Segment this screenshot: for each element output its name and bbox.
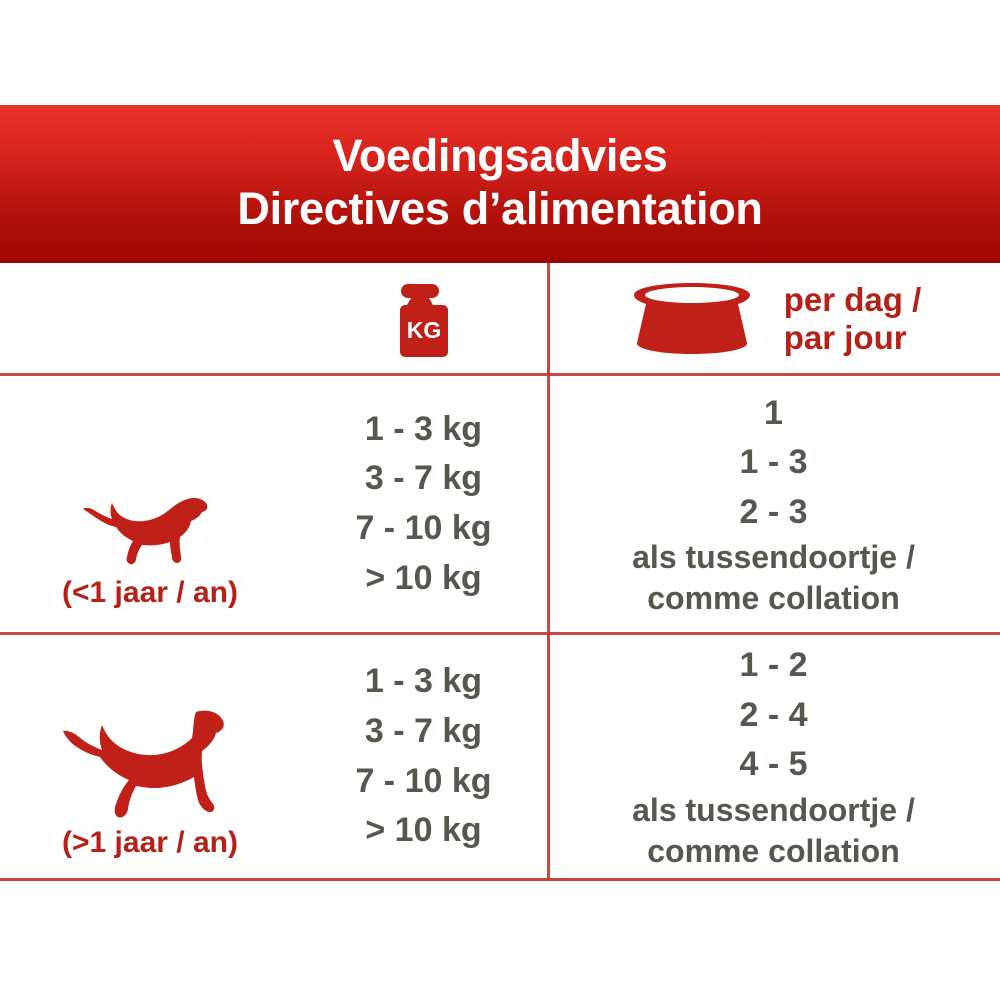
table-rule-bottom (0, 878, 1000, 881)
row-2-amount-note-line-2: comme collation (647, 831, 900, 872)
table-row: (<1 jaar / an) 1 - 3 kg 3 - 7 kg 7 - 10 … (0, 376, 1000, 632)
header-cell-weight: KG (300, 280, 547, 358)
page-header-banner: Voedingsadvies Directives d’alimentation (0, 105, 1000, 263)
row-2-weight-cell: 1 - 3 kg 3 - 7 kg 7 - 10 kg > 10 kg (300, 635, 547, 878)
row-1-animal-label: (<1 jaar / an) (62, 576, 238, 610)
svg-text:KG: KG (406, 317, 441, 343)
row-1-animal-cell: (<1 jaar / an) (0, 376, 300, 632)
row-1-amount-note-line-2: comme collation (647, 578, 900, 619)
row-1-weight-1: 3 - 7 kg (365, 454, 482, 504)
row-2-amount-note-line-1: als tussendoortje / (632, 790, 915, 831)
row-2-weight-3: > 10 kg (365, 806, 481, 856)
row-1-amount-0: 1 (764, 389, 783, 439)
kg-weight-icon: KG (392, 280, 456, 358)
per-day-line-dutch: per dag / (784, 281, 922, 319)
row-1-amount-cell: 1 1 - 3 2 - 3 als tussendoortje / comme … (547, 376, 1000, 632)
row-2-animal-cell: (>1 jaar / an) (0, 635, 300, 878)
table-row: (>1 jaar / an) 1 - 3 kg 3 - 7 kg 7 - 10 … (0, 635, 1000, 878)
row-2-weight-2: 7 - 10 kg (355, 757, 491, 807)
row-2-weight-0: 1 - 3 kg (365, 657, 482, 707)
table-header-row: KG per dag / par jour (0, 263, 1000, 375)
row-2-amount-1: 2 - 4 (739, 691, 807, 741)
row-1-amount-2: 2 - 3 (739, 488, 807, 538)
row-2-dog-icon-wrap (63, 696, 238, 826)
row-2-amount-0: 1 - 2 (739, 641, 807, 691)
per-day-line-french: par jour (784, 319, 922, 357)
row-1-amount-1: 1 - 3 (739, 438, 807, 488)
row-2-amount-cell: 1 - 2 2 - 4 4 - 5 als tussendoortje / co… (547, 635, 1000, 878)
row-1-weight-2: 7 - 10 kg (355, 504, 491, 554)
row-1-weight-0: 1 - 3 kg (365, 405, 482, 455)
adult-dog-silhouette-icon (63, 704, 238, 826)
dog-bowl-icon (626, 283, 758, 355)
row-1-weight-3: > 10 kg (365, 554, 481, 604)
row-1-dog-icon-wrap (80, 456, 220, 576)
page-title-dutch: Voedingsadvies (332, 129, 667, 182)
page-title-french: Directives d’alimentation (237, 182, 762, 235)
row-1-weight-cell: 1 - 3 kg 3 - 7 kg 7 - 10 kg > 10 kg (300, 376, 547, 632)
puppy-silhouette-icon (80, 490, 220, 576)
row-2-animal-label: (>1 jaar / an) (62, 826, 238, 860)
header-cell-amount: per dag / par jour (547, 281, 1000, 357)
per-day-header-label: per dag / par jour (784, 281, 922, 357)
row-1-amount-note-line-1: als tussendoortje / (632, 537, 915, 578)
row-2-weight-1: 3 - 7 kg (365, 707, 482, 757)
row-2-amount-2: 4 - 5 (739, 740, 807, 790)
